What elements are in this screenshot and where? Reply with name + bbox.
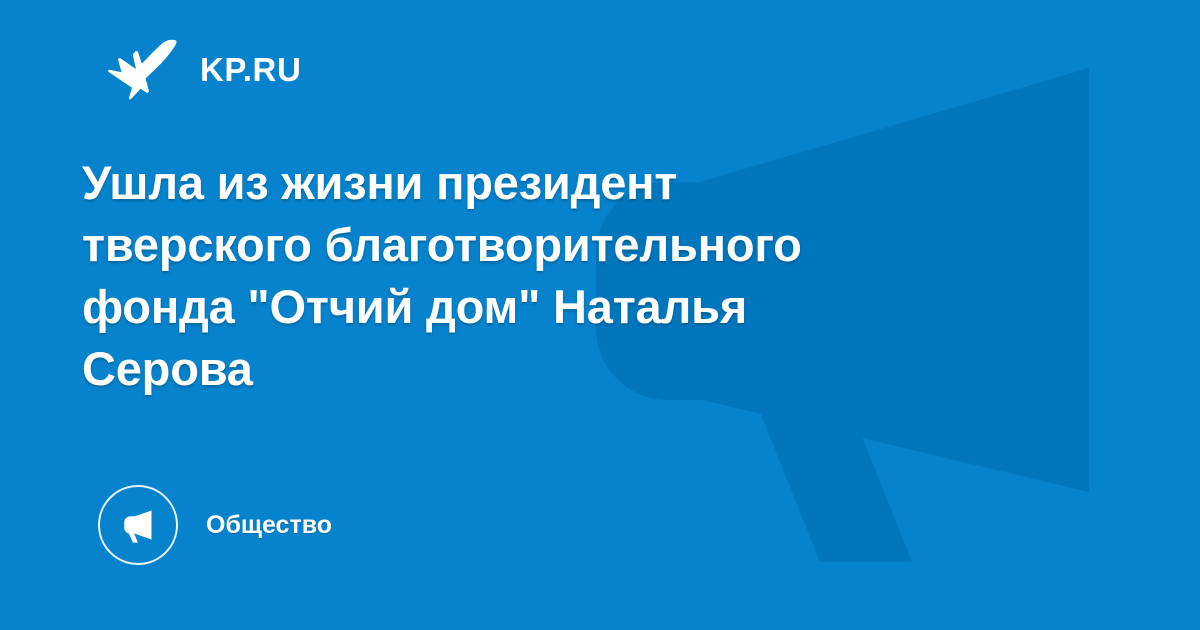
brand-lockup[interactable]: KP.RU — [108, 36, 301, 102]
headline-line: Ушла из жизни президент — [82, 152, 1022, 214]
headline-line: Серова — [82, 338, 1022, 400]
rubric-badge[interactable]: Общество — [98, 484, 332, 566]
page-title: Ушла из жизни президент тверского благот… — [82, 152, 1022, 400]
megaphone-icon — [117, 504, 159, 546]
swallow-bird-icon — [108, 38, 178, 100]
headline-line: тверского благотворительного — [82, 214, 1022, 276]
headline-line: фонда "Отчий дом" Наталья — [82, 276, 1022, 338]
social-share-card: KP.RU Ушла из жизни президент тверского … — [0, 0, 1200, 630]
rubric-icon-circle — [98, 485, 178, 565]
brand-wordmark: KP.RU — [200, 53, 301, 86]
rubric-label: Общество — [206, 513, 332, 538]
